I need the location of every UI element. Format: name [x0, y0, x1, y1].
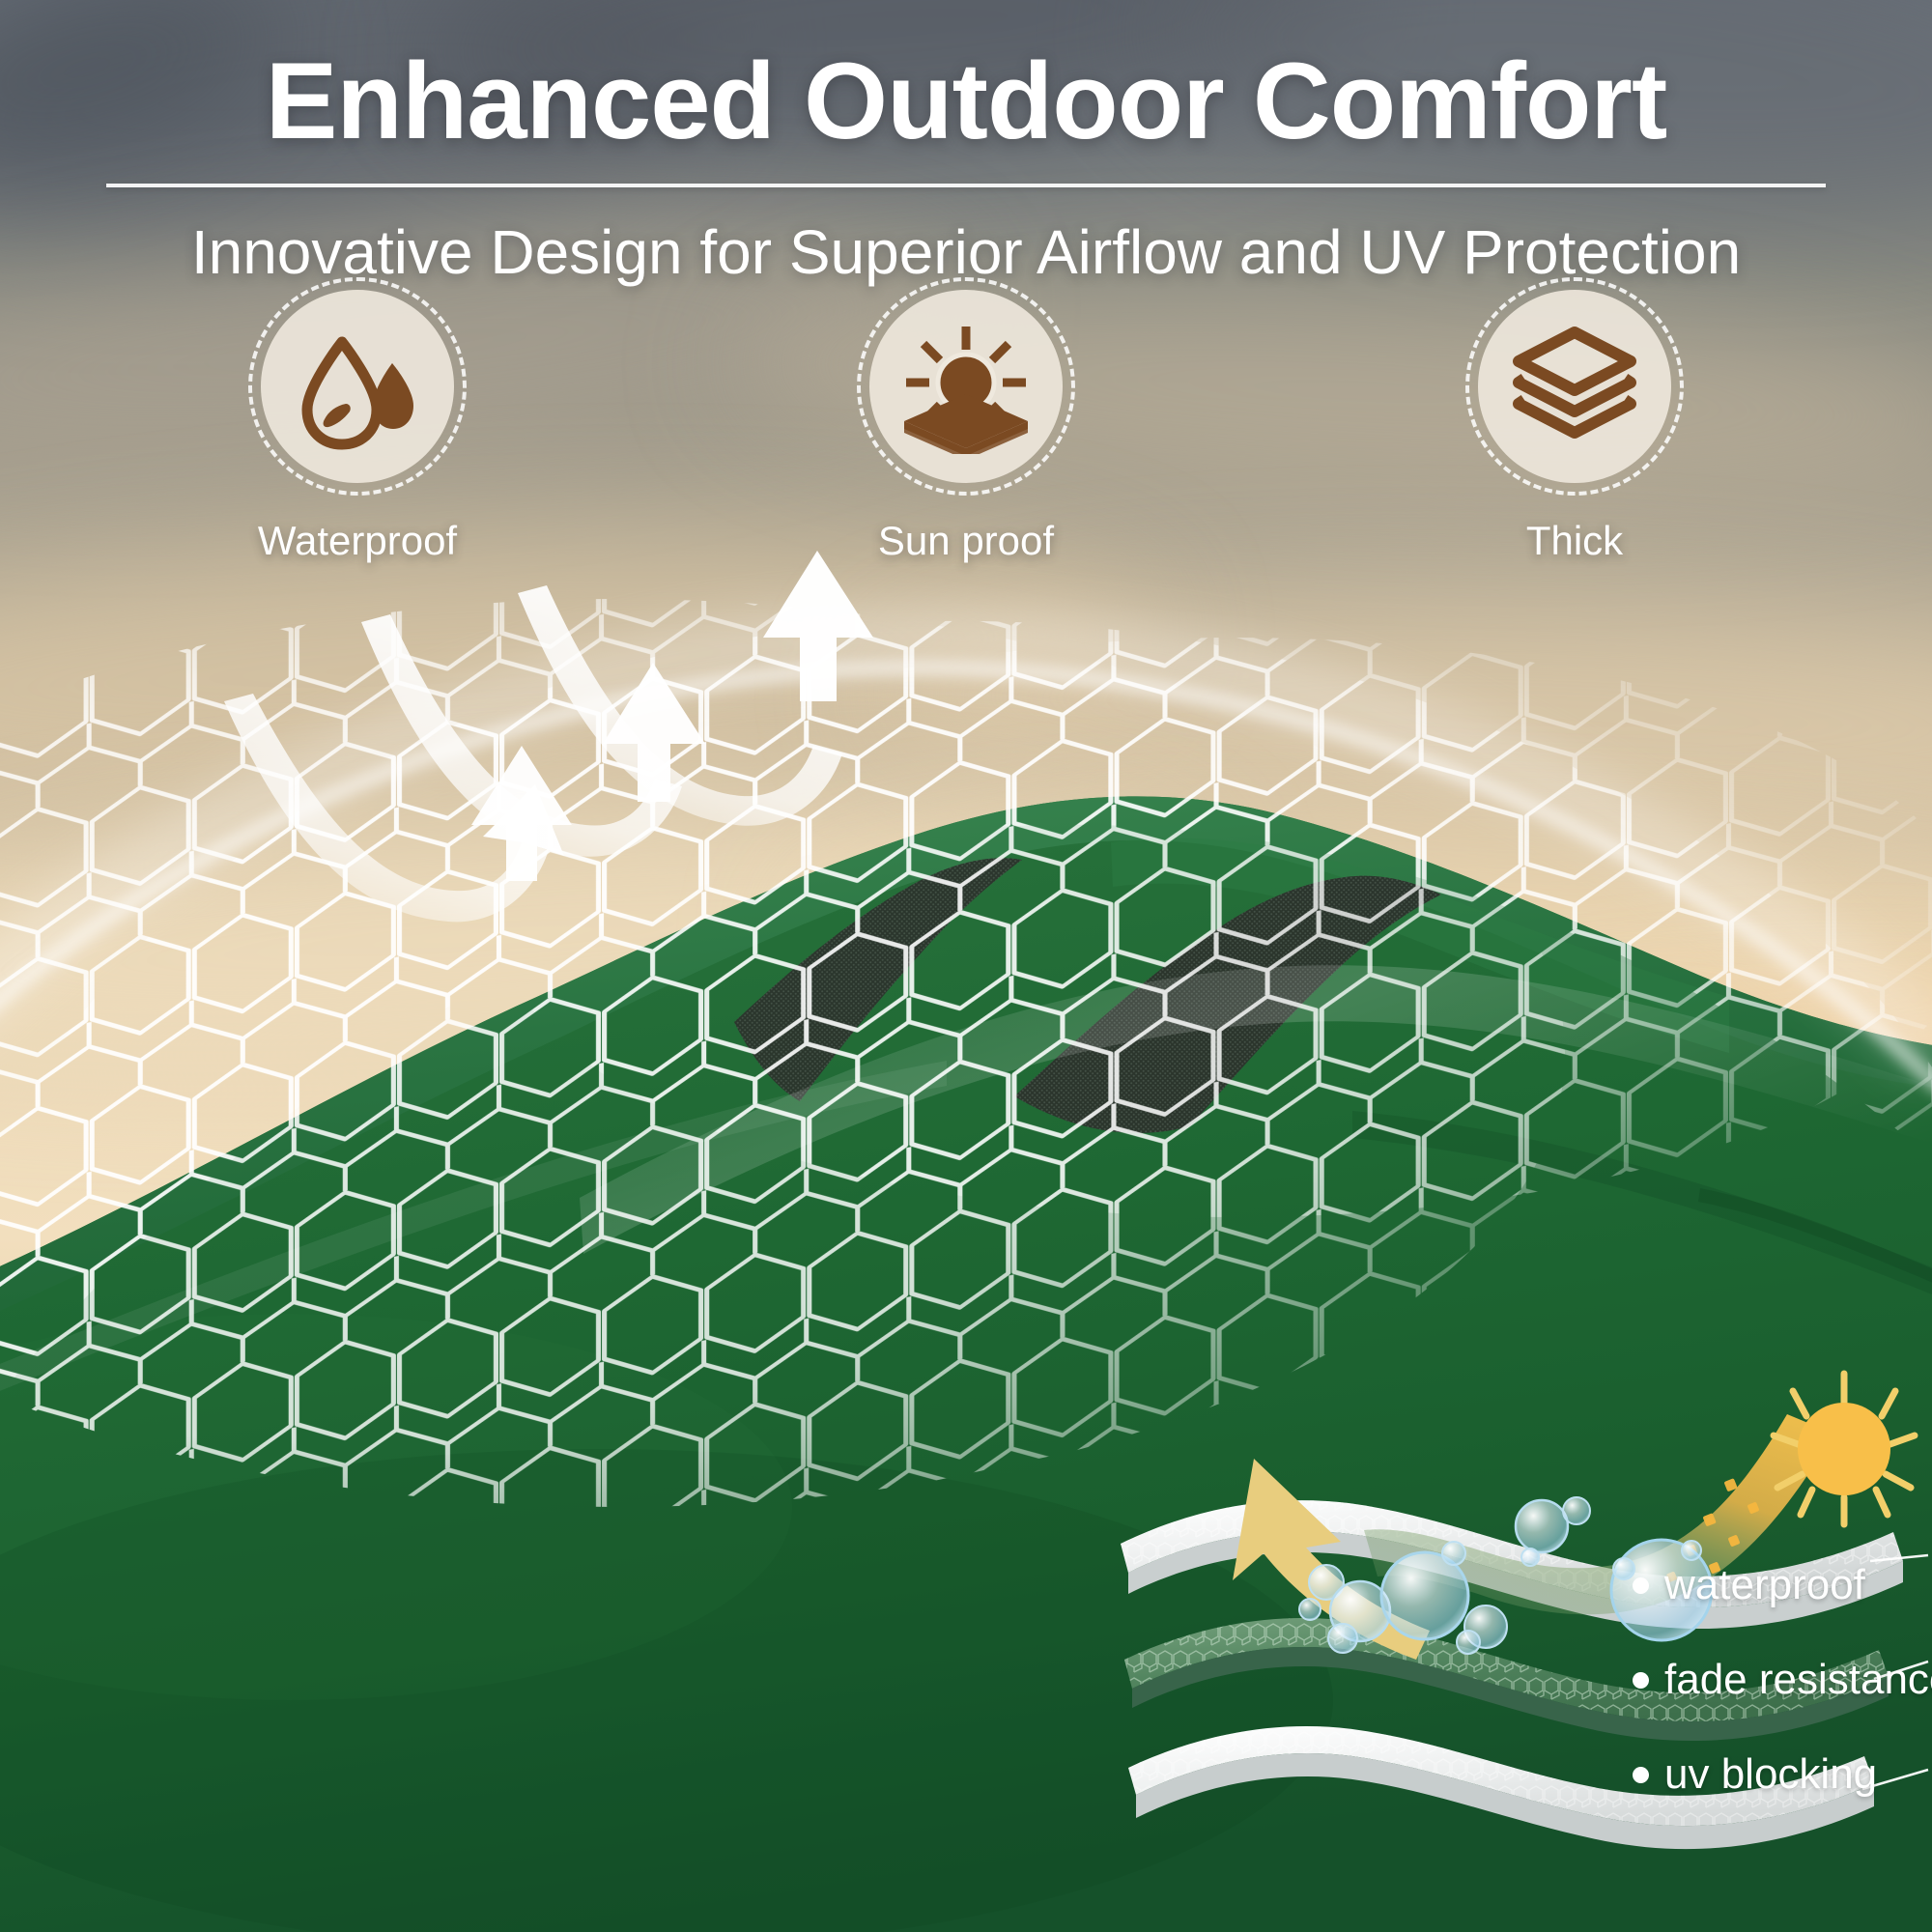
stacked-layers-icon: [1507, 319, 1642, 454]
feature-thick: Thick: [1430, 290, 1719, 564]
callout-item: uv blocking: [1633, 1745, 1932, 1804]
callout-label: fade resistance: [1664, 1656, 1932, 1704]
bullet-dot-icon: [1633, 1672, 1649, 1689]
feature-badge-row: Waterproof: [0, 290, 1932, 564]
sun-over-fabric-icon: [898, 319, 1034, 454]
page-title: Enhanced Outdoor Comfort: [0, 44, 1932, 158]
badge-thick: [1478, 290, 1671, 483]
callout-item: waterproof: [1633, 1555, 1932, 1615]
product-feature-poster: Enhanced Outdoor Comfort Innovative Desi…: [0, 0, 1932, 1932]
feature-sun-proof: Sun proof: [821, 290, 1111, 564]
feature-label: Waterproof: [213, 518, 502, 564]
callout-label: uv blocking: [1664, 1750, 1877, 1799]
feature-label: Sun proof: [821, 518, 1111, 564]
bullet-dot-icon: [1633, 1767, 1649, 1783]
feature-label: Thick: [1430, 518, 1719, 564]
badge-waterproof: [261, 290, 454, 483]
badge-sun-proof: [869, 290, 1063, 483]
water-drop-icon: [290, 319, 425, 454]
callout-list: waterproof fade resistance uv blocking: [1633, 1555, 1932, 1839]
bullet-dot-icon: [1633, 1577, 1649, 1594]
callout-label: waterproof: [1664, 1561, 1865, 1609]
callout-item: fade resistance: [1633, 1650, 1932, 1710]
feature-waterproof: Waterproof: [213, 290, 502, 564]
poster-header: Enhanced Outdoor Comfort Innovative Desi…: [0, 0, 1932, 288]
title-divider: [106, 184, 1826, 187]
